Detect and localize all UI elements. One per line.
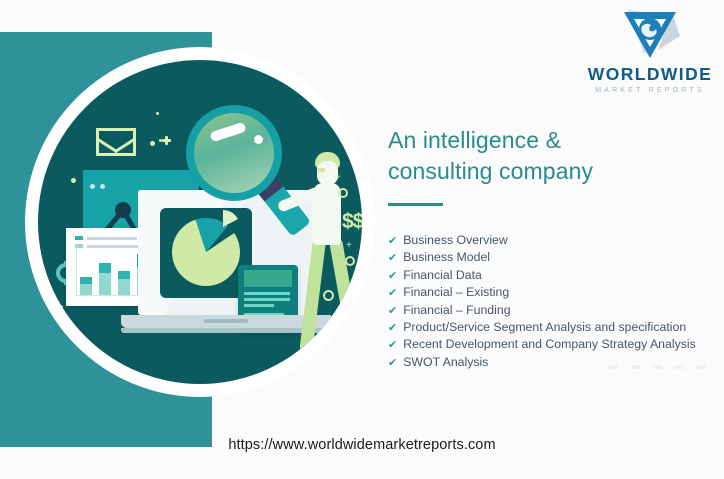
ring-dot-icon [323,290,334,301]
magnifier-icon [186,105,282,201]
list-item-label: SWOT Analysis [403,354,488,370]
feature-list: ✔ Business Overview ✔ Business Model ✔ F… [388,232,718,371]
sparkle-dot-icon [71,178,76,183]
list-item-label: Financial Data [403,267,482,283]
brand-name: WORLDWIDE [586,66,714,84]
check-icon: ✔ [388,285,397,301]
list-item: ✔ Business Overview [388,232,718,249]
globe-triangle-logo-icon [614,6,686,64]
marketing-banner: $$$ + + WORLDWIDE MARKET REPORTS An inte… [0,0,724,479]
check-icon: ✔ [388,303,397,319]
list-item-label: Product/Service Segment Analysis and spe… [403,319,686,335]
website-url[interactable]: https://www.worldwidemarketreports.com [0,437,724,453]
bar-chart-y-axis [76,246,77,296]
illustration-circle: $$$ + + [38,60,362,384]
report-card-header [244,270,292,287]
check-icon: ✔ [388,233,397,249]
bar [118,271,130,295]
list-item: ✔ Financial – Existing [388,284,718,301]
ring-dot-icon [338,188,348,198]
decorative-dot-row [609,365,706,369]
check-icon: ✔ [388,337,397,353]
list-item: ✔ Business Model [388,249,718,266]
list-item: ✔ Product/Service Segment Analysis and s… [388,319,718,336]
list-item-label: Business Overview [403,232,508,248]
title-divider [388,203,443,206]
plus-mark-icon: + [346,240,352,251]
list-item: ✔ Financial – Funding [388,302,718,319]
brand-tagline: MARKET REPORTS [586,87,714,94]
pie-chart-exploded-slice [206,210,240,244]
check-icon: ✔ [388,320,397,336]
ring-dot-icon [345,256,355,266]
sparkle-dot-icon [58,305,63,310]
bar [99,263,111,295]
lens-highlight [209,122,246,143]
content-block: An intelligence & consulting company ✔ B… [388,125,718,371]
check-icon: ✔ [388,250,397,266]
list-item: ✔ Recent Development and Company Strateg… [388,336,718,353]
brand-logo[interactable]: WORLDWIDE MARKET REPORTS [586,6,714,94]
list-item: ✔ Financial Data [388,267,718,284]
page-title: An intelligence & consulting company [388,125,718,187]
list-item-label: Business Model [403,249,490,265]
headline-line-2: consulting company [388,158,593,184]
list-item-label: Recent Development and Company Strategy … [403,336,696,352]
lens-highlight [254,135,263,144]
person-leg [299,239,326,352]
dot-cluster-decoration [150,136,176,150]
sparkle-dot-icon [156,112,159,115]
check-icon: ✔ [388,355,397,371]
list-item-label: Financial – Funding [403,302,510,318]
headline-line-1: An intelligence & [388,127,561,153]
check-icon: ✔ [388,268,397,284]
plus-mark-icon: + [335,172,341,183]
person-face [318,168,325,172]
list-item-label: Financial – Existing [403,284,509,300]
sparkle-dot-icon [56,118,60,122]
bar [80,277,92,295]
envelope-icon [96,128,136,156]
money-label: $$$ [342,210,362,234]
